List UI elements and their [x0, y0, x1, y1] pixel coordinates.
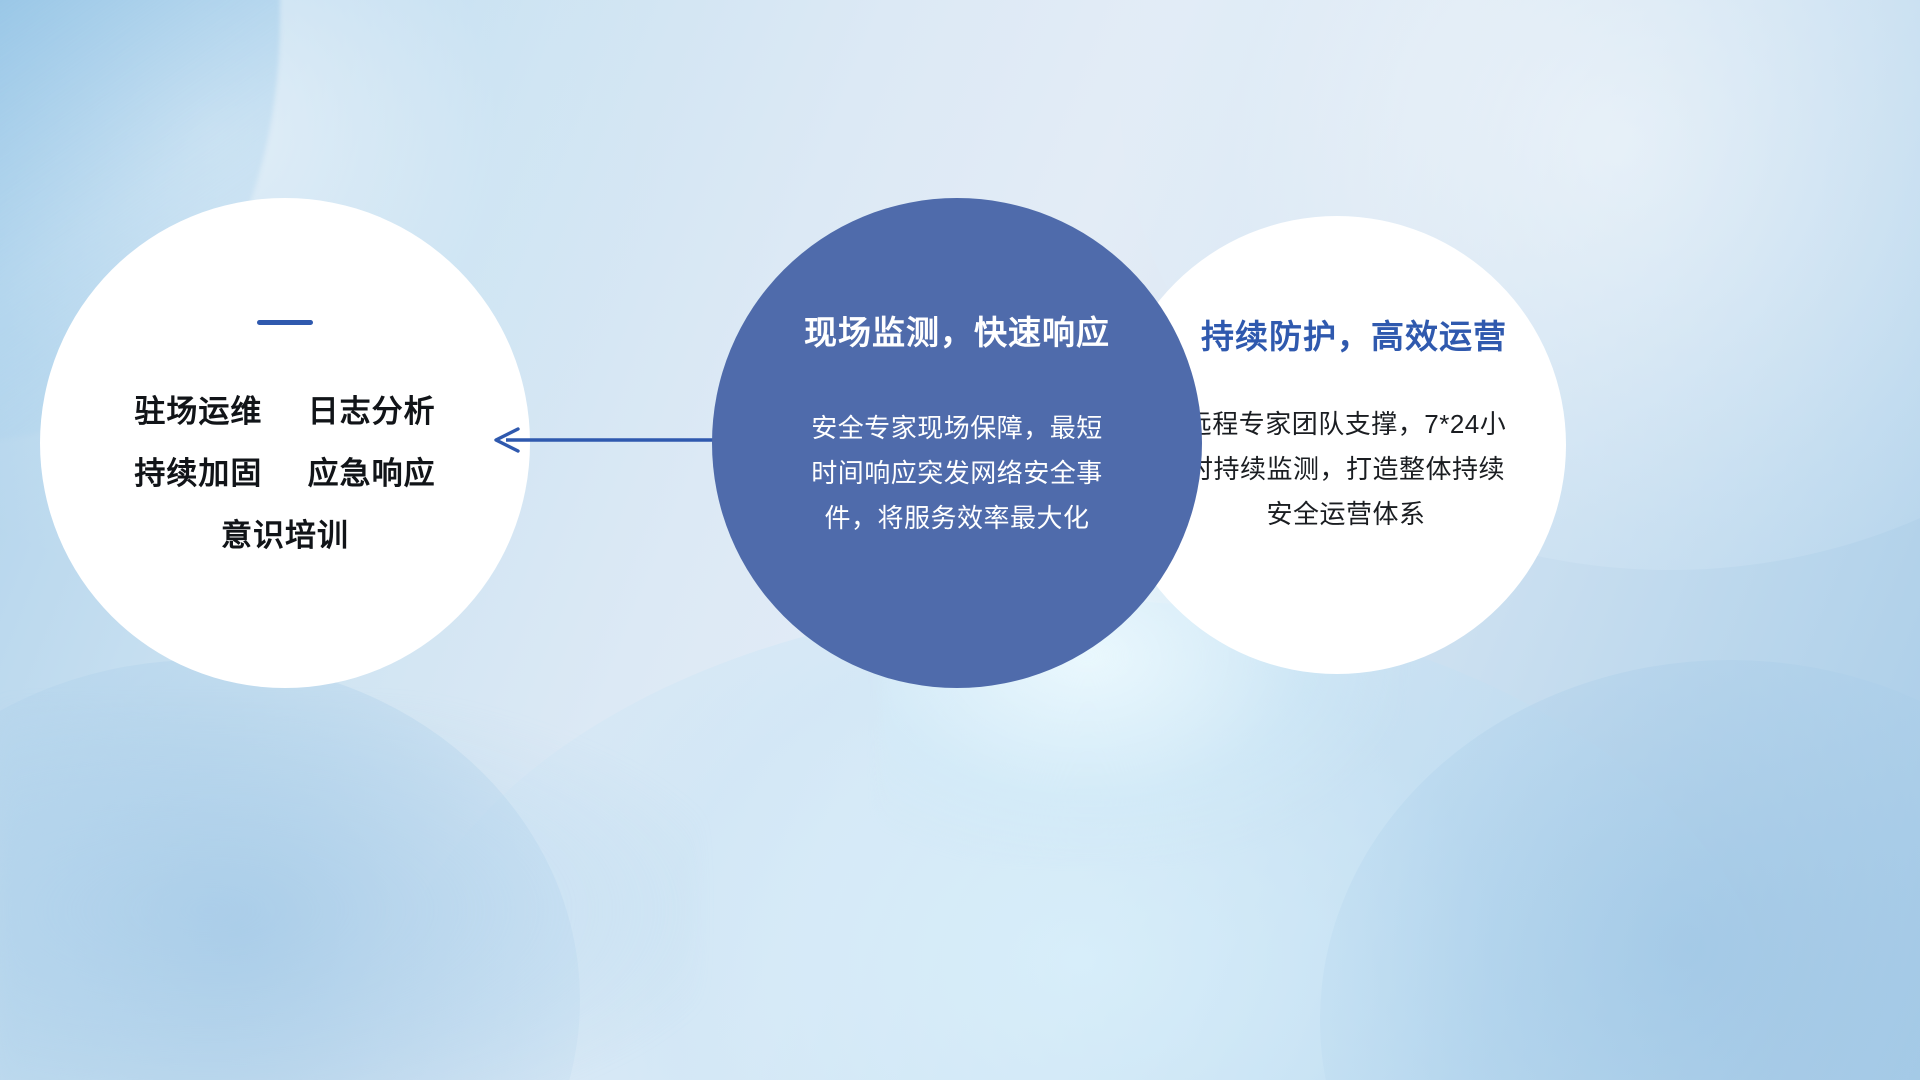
list-item: 意识培训: [134, 505, 435, 567]
short-rule-divider-icon: [257, 320, 313, 325]
list-item: 持续加固 应急响应: [134, 443, 435, 505]
middle-circle-body: 安全专家现场保障，最短时间响应突发网络安全事件，将服务效率最大化: [802, 406, 1112, 541]
service-tag: 日志分析: [308, 394, 436, 429]
service-tag: 应急响应: [308, 456, 436, 491]
right-circle-body: 远程专家团队支撑，7*24小时持续监测，打造整体持续安全运营体系: [1156, 402, 1518, 537]
middle-circle-title: 现场监测，快速响应: [804, 306, 1110, 354]
list-item: 驻场运维 日志分析: [134, 381, 435, 443]
right-circle-title: 持续防护，高效运营: [1167, 310, 1507, 358]
diagram-stage: 驻场运维 日志分析 持续加固 应急响应 意识培训 持续防护，高效运营 远程专家团…: [0, 0, 1920, 1080]
arrow-left-icon: [492, 424, 730, 456]
service-tag-list: 驻场运维 日志分析 持续加固 应急响应 意识培训: [134, 381, 435, 567]
service-tag: 持续加固: [134, 456, 262, 491]
service-tag: 驻场运维: [134, 394, 262, 429]
middle-onsite-monitoring-circle: 现场监测，快速响应 安全专家现场保障，最短时间响应突发网络安全事件，将服务效率最…: [712, 198, 1202, 688]
left-service-tags-circle: 驻场运维 日志分析 持续加固 应急响应 意识培训: [40, 198, 530, 688]
service-tag: 意识培训: [221, 518, 349, 553]
